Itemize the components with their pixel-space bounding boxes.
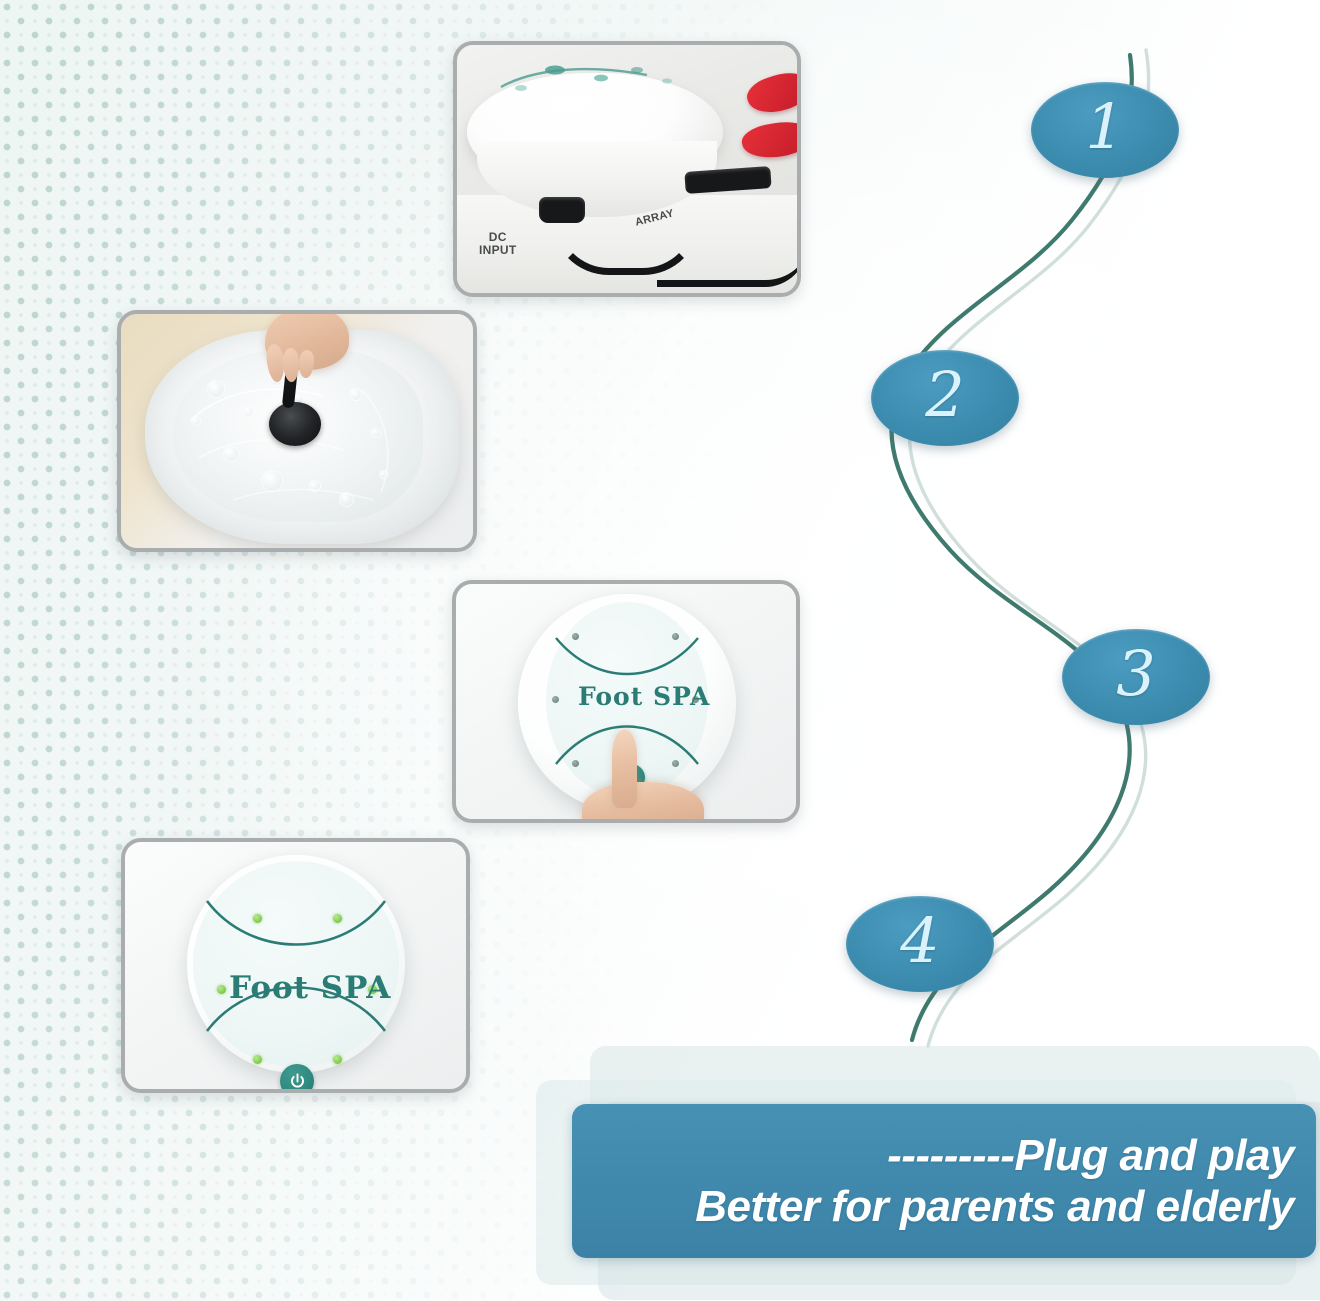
photo-press-power: Foot SPA [456, 584, 796, 819]
led-indicator [552, 696, 559, 703]
device-decor-arcs [193, 861, 399, 1067]
led-indicator [253, 1055, 262, 1064]
ionic-array [269, 402, 321, 446]
power-icon [288, 1072, 307, 1090]
led-indicator [217, 985, 226, 994]
tagline-line-1: ---------Plug and play [887, 1130, 1294, 1181]
step-badge-2[interactable]: 2 [871, 350, 1019, 446]
tagline-banner: ---------Plug and play Better for parent… [572, 1104, 1316, 1258]
device-brand-label: Foot SPA [578, 682, 710, 711]
dc-input-label: DCINPUT [479, 231, 517, 256]
infographic-canvas: DCINPUT ARRAY [0, 0, 1320, 1301]
step-badge-2-number: 2 [925, 364, 964, 426]
photo-device-running: Foot SPA [125, 842, 466, 1089]
photo-card-step-1[interactable]: DCINPUT ARRAY [453, 41, 801, 297]
step-badge-4[interactable]: 4 [846, 896, 994, 992]
step-badge-3[interactable]: 3 [1062, 629, 1210, 725]
photo-basin-array [121, 314, 473, 548]
device-brand-label: Foot SPA [229, 970, 391, 1006]
photo-card-step-3[interactable]: Foot SPA [452, 580, 800, 823]
tagline-banner-group: ---------Plug and play Better for parent… [536, 1046, 1320, 1296]
led-indicator [572, 760, 579, 767]
step-badge-1[interactable]: 1 [1031, 82, 1179, 178]
step-badge-3-number: 3 [1116, 643, 1155, 705]
dc-input-jack [539, 197, 585, 223]
led-indicator [672, 760, 679, 767]
led-indicator [672, 633, 679, 640]
photo-card-step-2[interactable] [117, 310, 477, 552]
led-indicator [333, 1055, 342, 1064]
step-badge-1-number: 1 [1085, 96, 1124, 158]
photo-card-step-4[interactable]: Foot SPA [121, 838, 470, 1093]
array-cable [657, 245, 797, 287]
pointing-finger [612, 730, 637, 808]
step-badge-4-number: 4 [900, 910, 939, 972]
device-top-graphic [497, 61, 687, 99]
tagline-line-2: Better for parents and elderly [695, 1181, 1294, 1232]
led-indicator [333, 914, 342, 923]
led-indicator [253, 914, 262, 923]
photo-device-ports: DCINPUT ARRAY [457, 45, 797, 293]
led-indicator [572, 633, 579, 640]
